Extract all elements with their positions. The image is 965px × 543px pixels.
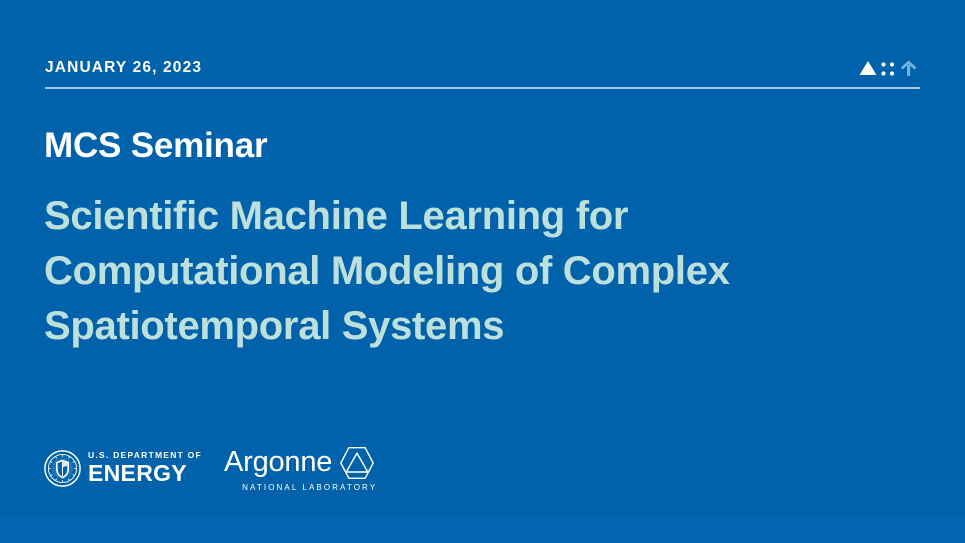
title-block: MCS Seminar Scientific Machine Learning … (44, 126, 924, 354)
triangle-icon (860, 61, 877, 75)
talk-title-line-1: Scientific Machine Learning for (44, 189, 924, 244)
logo-row: U.S. DEPARTMENT OF ENERGY Argonne NATION… (44, 440, 377, 496)
talk-title-line-3: Spatiotemporal Systems (44, 299, 924, 354)
argonne-logo: Argonne NATIONAL LABORATORY (224, 444, 377, 492)
doe-agency-text: ENERGY (88, 462, 202, 485)
presentation-slide: JANUARY 26, 2023 (0, 0, 965, 543)
talk-title-line-2: Computational Modeling of Complex (44, 244, 924, 299)
argonne-glyph-icon (901, 61, 917, 77)
date-label: JANUARY 26, 2023 (45, 60, 202, 76)
doe-wordmark: U.S. DEPARTMENT OF ENERGY (88, 451, 202, 485)
doe-seal-icon (44, 450, 81, 487)
page-title: MCS Seminar (44, 126, 924, 167)
dots-icon (881, 62, 885, 66)
header-icon-cluster (858, 56, 920, 82)
argonne-hexagon-icon (337, 445, 377, 481)
argonne-wordmark: Argonne (224, 448, 332, 477)
argonne-wordmark-row: Argonne (224, 445, 377, 481)
talk-title: Scientific Machine Learning for Computat… (44, 189, 924, 355)
doe-department-text: U.S. DEPARTMENT OF (88, 451, 202, 460)
argonne-subtitle: NATIONAL LABORATORY (224, 484, 377, 492)
bottom-accent-band (0, 518, 965, 543)
slide-header: JANUARY 26, 2023 (45, 60, 920, 92)
header-divider (45, 87, 920, 89)
doe-logo: U.S. DEPARTMENT OF ENERGY (44, 447, 202, 489)
